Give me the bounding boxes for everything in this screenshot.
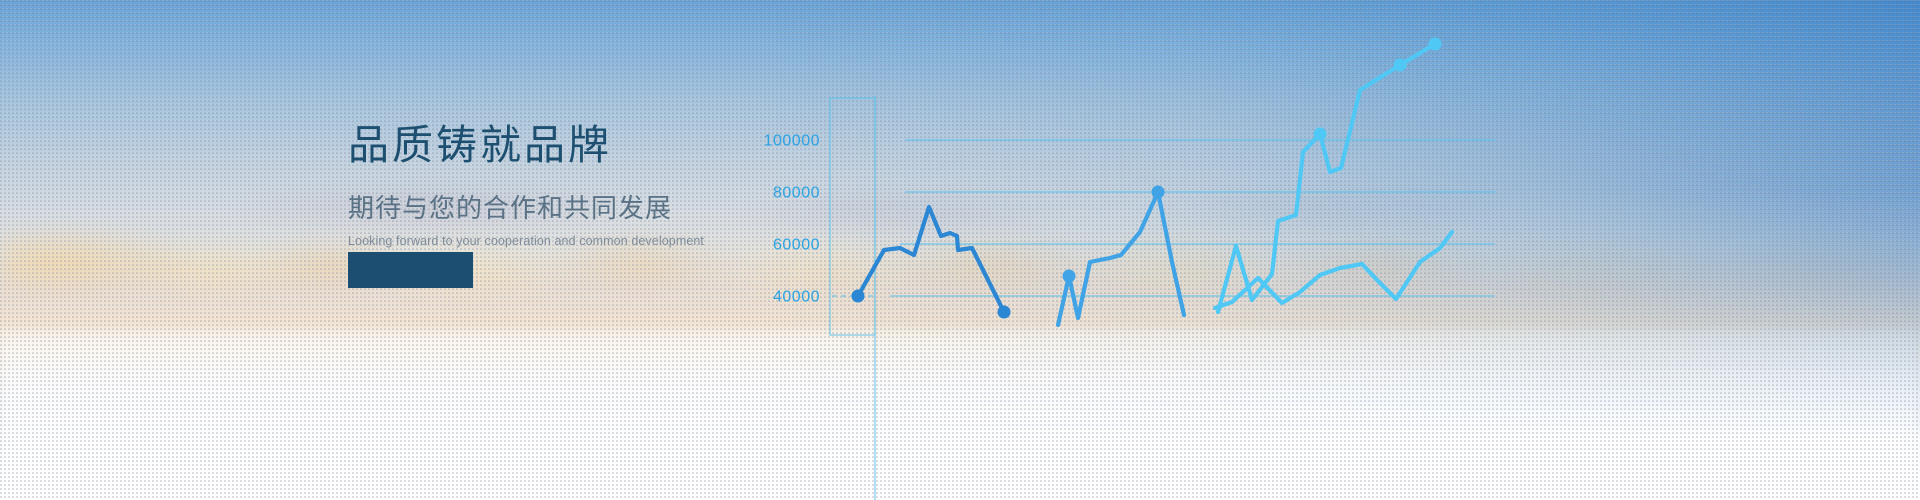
promo-banner: 品质铸就品牌 期待与您的合作和共同发展 Looking forward to y… — [0, 0, 1920, 500]
series-data-point[interactable] — [1394, 59, 1407, 72]
series-data-point[interactable] — [852, 290, 865, 303]
chart-series-layer — [852, 38, 1453, 326]
y-axis-tick-label: 40000 — [773, 289, 820, 306]
chart-series — [1058, 186, 1184, 326]
line-chart: 400006000080000100000 — [760, 0, 1920, 500]
banner-tagline-en: Looking forward to your cooperation and … — [348, 233, 778, 249]
page-title: 品质铸就品牌 — [348, 122, 778, 169]
series-data-point[interactable] — [998, 306, 1011, 319]
series-line — [1058, 192, 1184, 325]
banner-subtitle: 期待与您的合作和共同发展 — [348, 193, 778, 224]
y-axis-tick-label: 100000 — [764, 133, 820, 150]
banner-text-block: 品质铸就品牌 期待与您的合作和共同发展 Looking forward to y… — [348, 122, 778, 250]
y-axis-tick-label: 60000 — [773, 237, 820, 254]
series-data-point[interactable] — [1429, 38, 1442, 51]
series-data-point[interactable] — [1314, 128, 1327, 141]
series-data-point[interactable] — [1152, 186, 1165, 199]
y-axis-tick-label: 80000 — [773, 185, 820, 202]
series-data-point[interactable] — [1063, 270, 1076, 283]
chart-tick-labels: 400006000080000100000 — [764, 133, 820, 306]
cta-button[interactable] — [348, 252, 473, 288]
chart-canvas: 400006000080000100000 — [760, 0, 1920, 500]
